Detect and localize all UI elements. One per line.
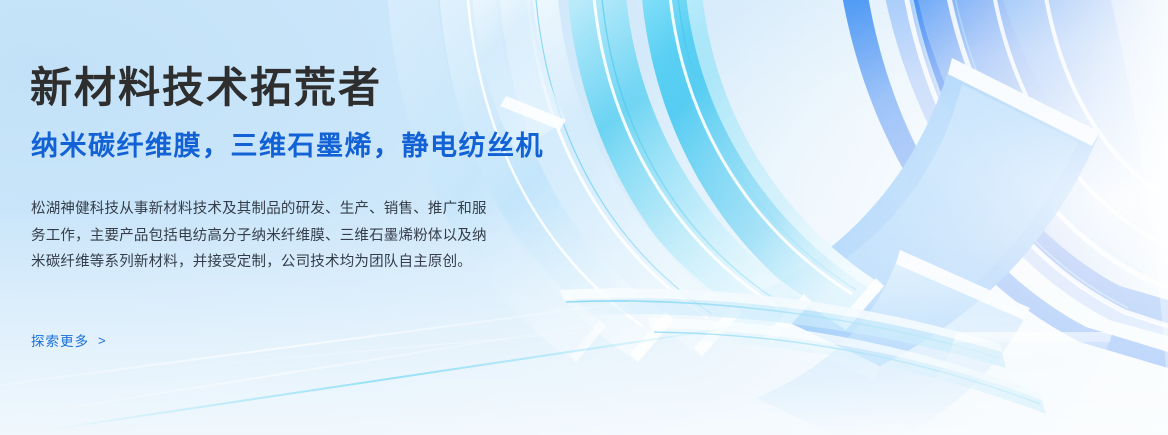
- explore-more-link[interactable]: 探索更多 >: [31, 330, 107, 350]
- description-line: 务工作，主要产品包括电纺高分子纳米纤维膜、三维石墨烯粉体以及纳: [31, 223, 551, 250]
- description-line: 松湖神健科技从事新材料技术及其制品的研发、生产、销售、推广和服: [31, 196, 551, 223]
- description-line: 米碳纤维等系列新材料，并接受定制，公司技术均为团队自主原创。: [31, 249, 551, 276]
- explore-more-label: 探索更多: [31, 330, 89, 350]
- page-subtitle: 纳米碳纤维膜，三维石墨烯，静电纺丝机: [31, 129, 544, 163]
- hero-description: 松湖神健科技从事新材料技术及其制品的研发、生产、销售、推广和服 务工作，主要产品…: [31, 196, 551, 276]
- chevron-right-icon: >: [98, 334, 107, 347]
- hero-banner: 新材料技术拓荒者 纳米碳纤维膜，三维石墨烯，静电纺丝机 松湖神健科技从事新材料技…: [0, 0, 1168, 435]
- hero-copy: 新材料技术拓荒者 纳米碳纤维膜，三维石墨烯，静电纺丝机 松湖神健科技从事新材料技…: [30, 0, 690, 435]
- page-title: 新材料技术拓荒者: [30, 62, 382, 114]
